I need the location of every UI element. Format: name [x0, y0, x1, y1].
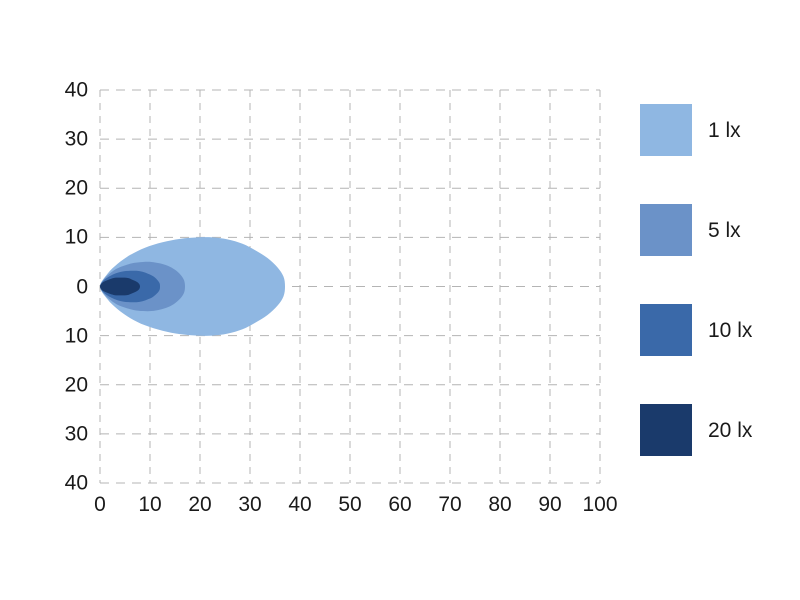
y-axis-tick-label: 30: [65, 423, 88, 444]
x-axis-tick-label: 80: [488, 494, 511, 515]
y-axis-tick-label: 40: [65, 473, 88, 494]
isolux-contours: [100, 237, 285, 336]
legend-color-swatch: [640, 304, 692, 356]
legend-item[interactable]: 20 lx: [640, 404, 752, 456]
legend-item-label: 10 lx: [708, 320, 752, 341]
y-axis-tick-label: 10: [65, 227, 88, 248]
x-axis-tick-label: 0: [94, 494, 106, 515]
plot-svg: [100, 90, 600, 483]
y-axis-tick-label: 30: [65, 129, 88, 150]
legend-item-label: 5 lx: [708, 220, 741, 241]
x-axis-tick-label: 30: [238, 494, 261, 515]
legend-item[interactable]: 1 lx: [640, 104, 741, 156]
x-axis-tick-label: 10: [138, 494, 161, 515]
y-axis-tick-label: 0: [76, 276, 88, 297]
isolux-chart: 40302010010203040 0102030405060708090100…: [0, 0, 800, 600]
legend-item-label: 20 lx: [708, 420, 752, 441]
x-axis-tick-label: 40: [288, 494, 311, 515]
y-axis-tick-label: 40: [65, 80, 88, 101]
legend-color-swatch: [640, 204, 692, 256]
x-axis-tick-label: 100: [582, 494, 617, 515]
legend-color-swatch: [640, 404, 692, 456]
legend-item[interactable]: 5 lx: [640, 204, 741, 256]
y-axis-tick-label: 20: [65, 374, 88, 395]
legend-item-label: 1 lx: [708, 120, 741, 141]
x-axis-tick-label: 90: [538, 494, 561, 515]
x-axis-tick-labels: 0102030405060708090100: [100, 494, 600, 520]
x-axis-tick-label: 20: [188, 494, 211, 515]
x-axis-tick-label: 70: [438, 494, 461, 515]
x-axis-tick-label: 50: [338, 494, 361, 515]
y-axis-tick-label: 20: [65, 178, 88, 199]
legend: 1 lx5 lx10 lx20 lx: [640, 104, 790, 474]
legend-item[interactable]: 10 lx: [640, 304, 752, 356]
x-axis-tick-label: 60: [388, 494, 411, 515]
legend-color-swatch: [640, 104, 692, 156]
y-axis-tick-label: 10: [65, 325, 88, 346]
plot-area: [100, 90, 600, 483]
y-axis-tick-labels: 40302010010203040: [0, 90, 88, 483]
